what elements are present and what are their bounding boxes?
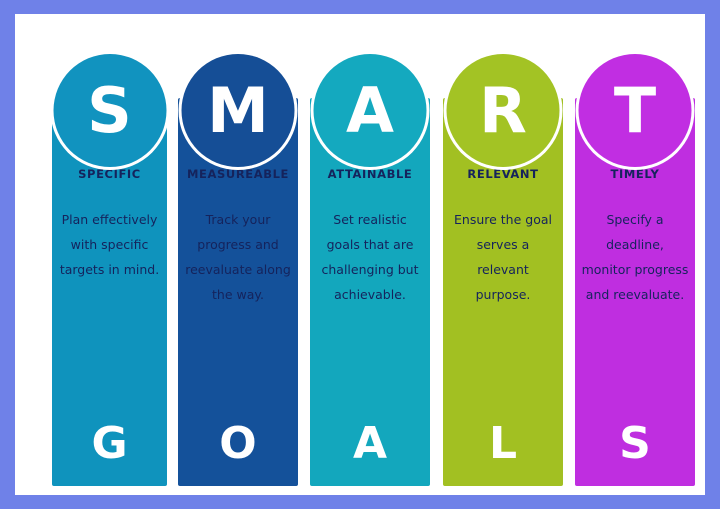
acronym-letter: S — [87, 80, 132, 142]
smart-column-relevant: RELEVANTEnsure the goal serves a relevan… — [443, 54, 563, 486]
column-description: Set realistic goals that are challenging… — [310, 207, 430, 307]
acronym-circle-r: R — [447, 54, 560, 167]
smart-column-specific: SPECIFICPlan effectively with specific t… — [52, 54, 167, 486]
acronym-circle-m: M — [182, 54, 295, 167]
smart-column-measureable: MEASUREABLETrack your progress and reeva… — [178, 54, 298, 486]
column-description: Specify a deadline, monitor progress and… — [575, 207, 695, 307]
smart-column-attainable: ATTAINABLESet realistic goals that are c… — [310, 54, 430, 486]
goals-letter-s: S — [575, 422, 695, 466]
column-description: Plan effectively with specific targets i… — [52, 207, 167, 282]
smart-goals-poster: SPECIFICPlan effectively with specific t… — [0, 0, 720, 509]
acronym-circle-s: S — [53, 54, 166, 167]
acronym-letter: M — [207, 80, 269, 142]
column-description: Ensure the goal serves a relevant purpos… — [443, 207, 563, 307]
column-description: Track your progress and reevaluate along… — [178, 207, 298, 307]
goals-letter-a: A — [310, 422, 430, 466]
acronym-circle-t: T — [579, 54, 692, 167]
goals-letter-g: G — [52, 422, 167, 466]
column-title: TIMELY — [611, 167, 660, 181]
column-title: MEASUREABLE — [187, 167, 289, 181]
acronym-circle-a: A — [314, 54, 427, 167]
goals-letter-o: O — [178, 422, 298, 466]
column-title: SPECIFIC — [78, 167, 141, 181]
column-title: ATTAINABLE — [328, 167, 413, 181]
column-title: RELEVANT — [467, 167, 538, 181]
poster-panel: SPECIFICPlan effectively with specific t… — [15, 14, 705, 495]
acronym-letter: T — [614, 80, 656, 142]
smart-columns-container: SPECIFICPlan effectively with specific t… — [52, 54, 695, 486]
goals-letter-l: L — [443, 422, 563, 466]
acronym-letter: R — [479, 80, 527, 142]
acronym-letter: A — [346, 80, 394, 142]
smart-column-timely: TIMELYSpecify a deadline, monitor progre… — [575, 54, 695, 486]
